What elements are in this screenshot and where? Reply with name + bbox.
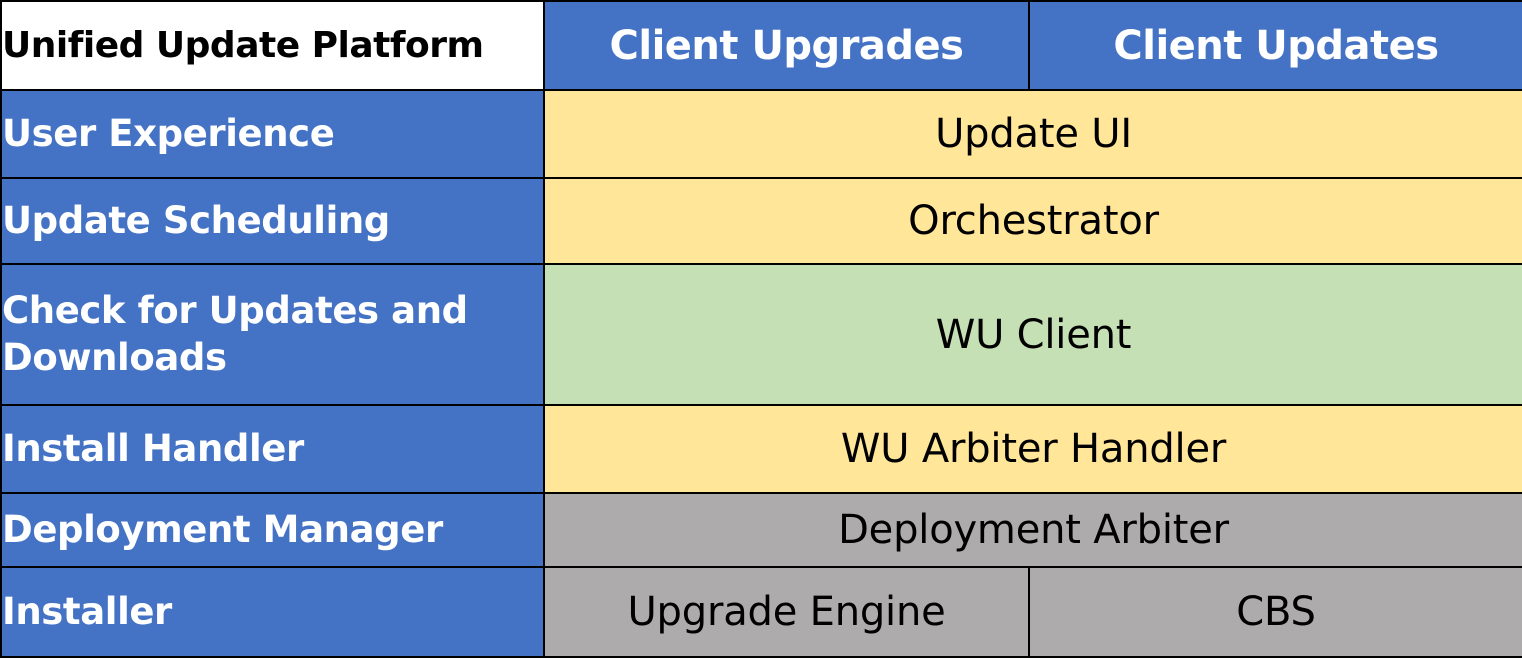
table-row: Install Handler WU Arbiter Handler (1, 405, 1522, 493)
row-value-update-scheduling: Orchestrator (544, 178, 1522, 264)
table-row: Update Scheduling Orchestrator (1, 178, 1522, 264)
table-row: Installer Upgrade Engine CBS (1, 567, 1522, 657)
unified-update-platform-table: Unified Update Platform Client Upgrades … (0, 0, 1522, 658)
row-value-check-for-updates-and-downloads: WU Client (544, 264, 1522, 405)
row-value-install-handler: WU Arbiter Handler (544, 405, 1522, 493)
column-header-client-updates: Client Updates (1029, 1, 1522, 90)
column-header-client-upgrades: Client Upgrades (544, 1, 1029, 90)
row-value-user-experience: Update UI (544, 90, 1522, 178)
row-value-installer-client-upgrades: Upgrade Engine (544, 567, 1029, 657)
row-label-user-experience: User Experience (1, 90, 544, 178)
row-label-deployment-manager: Deployment Manager (1, 493, 544, 567)
table-row: User Experience Update UI (1, 90, 1522, 178)
table-header-row: Unified Update Platform Client Upgrades … (1, 1, 1522, 90)
row-value-deployment-manager: Deployment Arbiter (544, 493, 1522, 567)
table-row: Check for Updates and Downloads WU Clien… (1, 264, 1522, 405)
row-label-update-scheduling: Update Scheduling (1, 178, 544, 264)
row-label-installer: Installer (1, 567, 544, 657)
row-label-install-handler: Install Handler (1, 405, 544, 493)
table-row: Deployment Manager Deployment Arbiter (1, 493, 1522, 567)
page-title: Unified Update Platform (1, 1, 544, 90)
row-label-check-for-updates-and-downloads: Check for Updates and Downloads (1, 264, 544, 405)
row-value-installer-client-updates: CBS (1029, 567, 1522, 657)
